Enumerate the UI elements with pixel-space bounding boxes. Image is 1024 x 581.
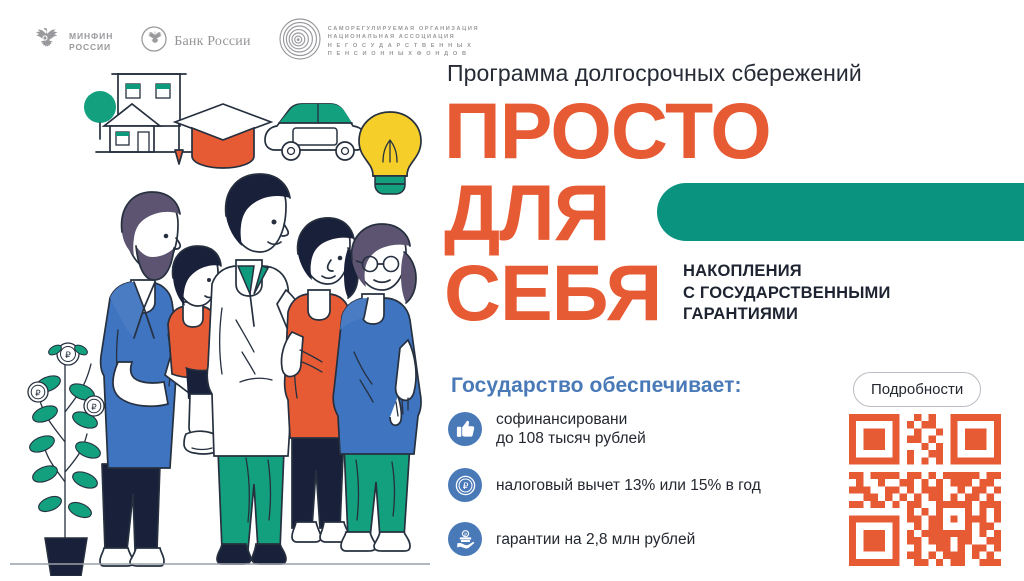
logo-minfin: МИНФИН РОССИИ <box>28 24 113 59</box>
poster-canvas: МИНФИН РОССИИ Банк России <box>0 0 1024 576</box>
list-item-label: налоговый вычет 13% или 15% в год <box>496 476 761 495</box>
logo-bank-rossii-label: Банк России <box>174 34 250 49</box>
details-button[interactable]: Подробности <box>853 372 981 407</box>
svg-text:₽: ₽ <box>65 350 71 360</box>
headline-line-3: СЕБЯ <box>444 258 661 328</box>
family-illustration: .ln{fill:none;stroke:#26303f;stroke-widt… <box>0 62 440 581</box>
qr-code[interactable] <box>849 414 1001 571</box>
list-item-label: софинансировани до 108 тысяч рублей <box>496 410 646 448</box>
svg-text:₽: ₽ <box>462 481 468 491</box>
svg-text:₽: ₽ <box>91 402 97 412</box>
car-icon <box>265 104 366 160</box>
program-kicker: Программа долгосрочных сбережений <box>447 60 862 87</box>
money-plant: ₽ ₽ ₽ <box>27 343 104 576</box>
list-item-label: гарантии на 2,8 млн рублей <box>496 530 695 549</box>
logo-minfin-label: МИНФИН РОССИИ <box>69 31 113 53</box>
logo-bank-rossii: Банк России <box>141 26 250 57</box>
ruble-flower: ₽ <box>84 396 104 416</box>
list-item: софинансировани до 108 тысяч рублей <box>448 410 848 448</box>
headline-subtext: НАКОПЛЕНИЯ С ГОСУДАРСТВЕННЫМИ ГАРАНТИЯМИ <box>683 261 891 326</box>
svg-text:₽: ₽ <box>35 388 41 398</box>
concentric-spiral-icon <box>279 18 321 65</box>
thumbs-up-icon <box>448 412 482 446</box>
ruble-coin-icon: ₽ <box>448 468 482 502</box>
headline-line-1: ПРОСТО <box>444 96 771 166</box>
logo-napf-label: САМОРЕГУЛИРУЕМАЯ ОРГАНИЗАЦИЯ НАЦИОНАЛЬНА… <box>328 25 479 58</box>
benefits-title: Государство обеспечивает: <box>451 374 742 398</box>
green-accent-bar <box>657 183 1024 241</box>
benefits-list: софинансировани до 108 тысяч рублей ₽ на… <box>448 410 848 576</box>
house-icon <box>84 74 192 152</box>
svg-text:₽: ₽ <box>464 532 467 537</box>
double-headed-eagle-icon <box>28 24 62 59</box>
list-item: ₽ налоговый вычет 13% или 15% в год <box>448 468 848 502</box>
ruble-flower: ₽ <box>47 343 89 365</box>
graduation-cap-icon <box>175 104 271 168</box>
headline-line-2: ДЛЯ <box>444 178 610 248</box>
partner-logo-bar: МИНФИН РОССИИ Банк России <box>28 18 479 65</box>
list-item: ₽ гарантии на 2,8 млн рублей <box>448 522 848 556</box>
logo-napf: САМОРЕГУЛИРУЕМАЯ ОРГАНИЗАЦИЯ НАЦИОНАЛЬНА… <box>279 18 479 65</box>
lightbulb-icon <box>359 112 421 194</box>
circular-eagle-icon <box>141 26 167 57</box>
hand-money-icon: ₽ <box>448 522 482 556</box>
ruble-flower: ₽ <box>28 382 48 402</box>
